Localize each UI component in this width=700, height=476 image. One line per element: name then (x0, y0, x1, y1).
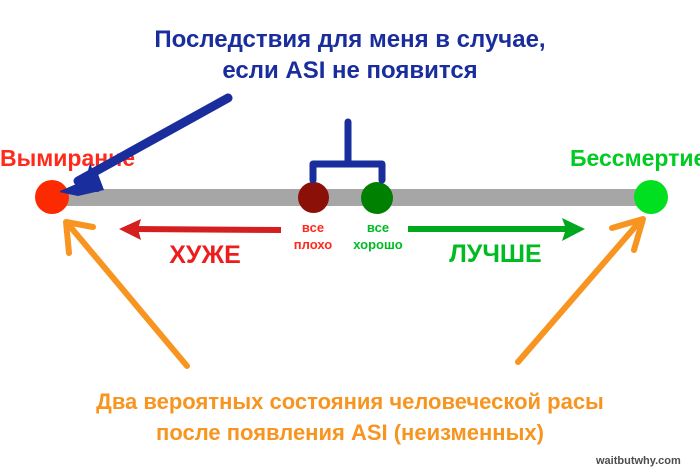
blue-title-line-1: Последствия для меня в случае, (0, 24, 700, 55)
label-immortality: Бессмертие (570, 145, 700, 172)
red-worse-arrow (119, 219, 281, 240)
direction-word-better: ЛУЧШЕ (443, 240, 548, 269)
spectrum-dot-immortality (634, 180, 668, 214)
blue-title: Последствия для меня в случае, если ASI … (0, 24, 700, 86)
direction-word-worse: ХУЖЕ (160, 241, 250, 270)
label-all-bad-line-1: все (278, 219, 348, 236)
blue-bracket (313, 122, 382, 180)
watermark: waitbutwhy.com (596, 455, 681, 467)
spectrum-dot-all-bad (298, 182, 329, 213)
spectrum-dot-all-good (361, 182, 393, 214)
label-all-good: все хорошо (343, 219, 413, 253)
blue-title-line-2: если ASI не появится (0, 55, 700, 86)
orange-caption: Два вероятных состояния человеческой рас… (0, 386, 700, 448)
label-extinction: Вымирание (0, 145, 135, 172)
spectrum-dot-extinction (35, 180, 69, 214)
infographic-canvas: Последствия для меня в случае, если ASI … (0, 0, 700, 476)
green-better-arrow (408, 218, 585, 241)
spectrum-bar (38, 189, 665, 206)
label-all-bad-line-2: плохо (278, 236, 348, 253)
label-all-bad: все плохо (278, 219, 348, 253)
orange-caption-line-1: Два вероятных состояния человеческой рас… (0, 386, 700, 417)
label-all-good-line-2: хорошо (343, 236, 413, 253)
orange-caption-line-2: после появления ASI (неизменных) (0, 417, 700, 448)
label-all-good-line-1: все (343, 219, 413, 236)
